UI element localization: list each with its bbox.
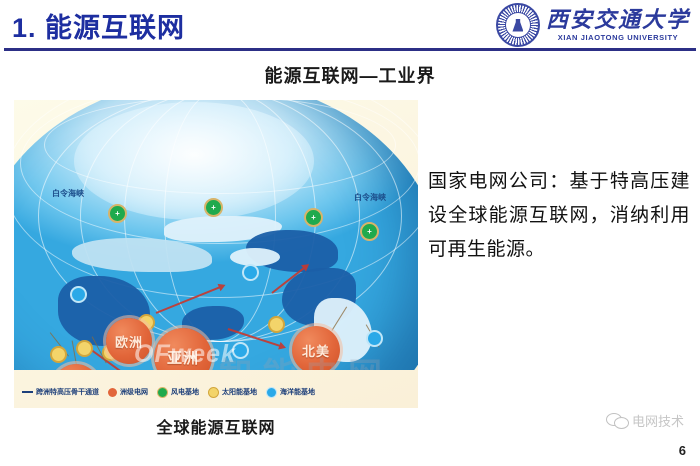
body-paragraph: 国家电网公司：基于特高压建设全球能源互联网，消纳利用可再生能源。 — [428, 165, 690, 267]
logo-name-en: XIAN JIAOTONG UNIVERSITY — [558, 34, 679, 42]
ocean-energy-node — [366, 330, 383, 347]
logo-name-cn: 西安交通大学 — [546, 9, 690, 31]
globe-polar-highlight — [74, 102, 314, 220]
header-divider — [4, 48, 696, 51]
globe-illustration: + + + + 欧洲 亚洲 北美 非洲 大洋洲 南美 — [14, 100, 418, 370]
map-label-bering-strait-left: 白令海峡 — [52, 188, 84, 199]
legend-label: 跨洲特高压骨干通道 — [36, 387, 99, 397]
legend-label: 洲级电网 — [120, 387, 148, 397]
landmass-shape — [230, 248, 280, 266]
hub-label: 欧洲 — [115, 332, 143, 351]
legend-blue-dot-icon — [266, 387, 277, 398]
page-number: 6 — [679, 443, 686, 458]
slide-subtitle: 能源互联网—工业界 — [0, 62, 700, 88]
continent-hub-europe: 欧洲 — [106, 318, 152, 364]
wechat-account-badge: 电网技术 — [606, 411, 684, 430]
solar-base-node — [268, 316, 285, 333]
legend-label: 太阳能基地 — [222, 387, 257, 397]
legend-item-solar-base: 太阳能基地 — [208, 387, 257, 398]
ocean-energy-node — [242, 264, 259, 281]
wind-base-node: + — [204, 198, 223, 217]
legend-red-dot-icon — [108, 388, 117, 397]
legend-item-wind-base: 风电基地 — [157, 387, 199, 398]
hub-label: 亚洲 — [167, 347, 199, 368]
wechat-bubble-front — [614, 417, 629, 429]
wind-base-node: + — [360, 222, 379, 241]
global-energy-internet-figure: + + + + 欧洲 亚洲 北美 非洲 大洋洲 南美 — [14, 100, 418, 408]
logo-text-block: 西安交通大学 XIAN JIAOTONG UNIVERSITY — [546, 9, 690, 42]
university-logo: 西安交通大学 XIAN JIAOTONG UNIVERSITY — [496, 3, 690, 47]
seal-core-glyph — [512, 19, 523, 32]
legend-item-continental-grid: 洲级电网 — [108, 387, 148, 397]
solar-base-node — [50, 346, 67, 363]
wind-base-node: + — [304, 208, 323, 227]
map-label-bering-strait-right: 白令海峡 — [354, 192, 386, 203]
ocean-energy-node — [232, 342, 249, 359]
continent-hub-north-america: 北美 — [292, 326, 340, 370]
wechat-account-name: 电网技术 — [632, 411, 684, 430]
university-seal-icon — [496, 3, 540, 47]
legend-line-swatch-icon — [22, 391, 33, 393]
page-title: 1. 能源互联网 — [12, 6, 185, 45]
wechat-icon — [606, 413, 628, 429]
legend-label: 风电基地 — [171, 387, 199, 397]
slide-header: 1. 能源互联网 西安交通大学 XIAN JIAOTONG UNIVERSITY — [0, 0, 700, 52]
hub-label: 北美 — [302, 341, 330, 360]
figure-legend: 跨洲特高压骨干通道 洲级电网 风电基地 太阳能基地 海洋能基地 — [14, 382, 418, 402]
figure-caption: 全球能源互联网 — [14, 414, 418, 438]
ocean-energy-node — [70, 286, 87, 303]
legend-green-dot-icon — [157, 387, 168, 398]
legend-item-ocean-base: 海洋能基地 — [266, 387, 315, 398]
legend-item-uhv-corridor: 跨洲特高压骨干通道 — [22, 387, 99, 397]
solar-base-node — [76, 340, 93, 357]
wind-base-node: + — [108, 204, 127, 223]
legend-label: 海洋能基地 — [280, 387, 315, 397]
legend-yellow-dot-icon — [208, 387, 219, 398]
